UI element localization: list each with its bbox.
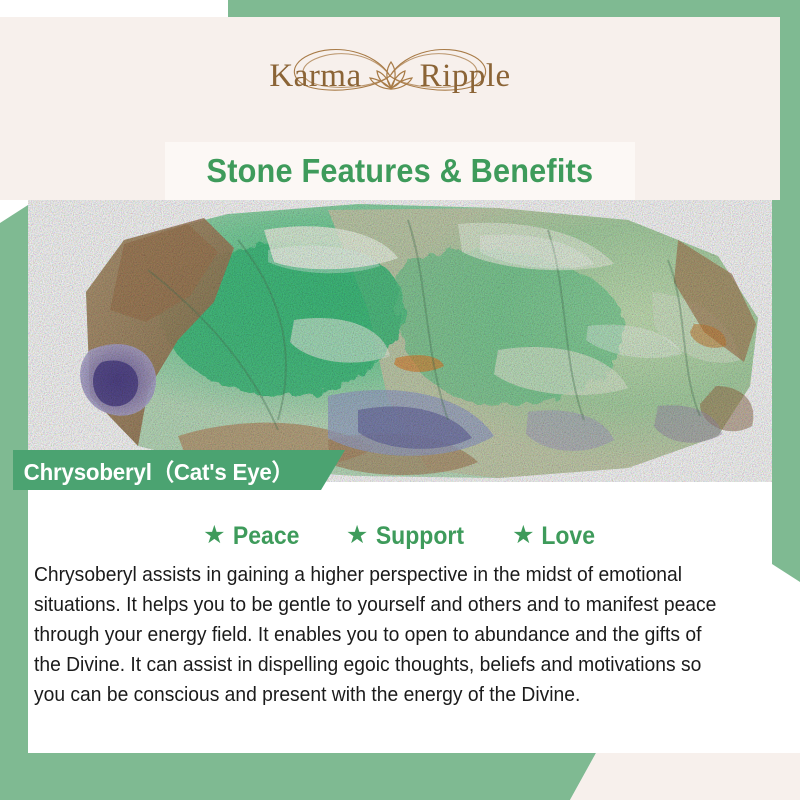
footer-cream-corner [570, 753, 800, 800]
keyword-item-peace: ★ Peace [203, 522, 302, 551]
keyword-label: Love [541, 522, 595, 551]
star-icon: ★ [512, 523, 534, 548]
stone-info-card: Karma Ripple [0, 0, 800, 800]
page-title: Stone Features & Benefits [207, 152, 594, 190]
brand-logo: Karma Ripple [0, 40, 780, 112]
frame-bottom-bar [0, 753, 596, 800]
keyword-item-support: ★ Support [346, 522, 468, 551]
star-icon: ★ [203, 523, 225, 548]
frame-top-right-bar [228, 0, 800, 18]
stone-description: Chrysoberyl assists in gaining a higher … [34, 560, 728, 710]
page-title-box: Stone Features & Benefits [165, 142, 635, 200]
stone-name-label: Chrysoberyl（Cat's Eye） [13, 453, 294, 487]
stone-name-banner: Chrysoberyl（Cat's Eye） [13, 450, 345, 490]
keyword-label: Peace [232, 522, 299, 551]
keyword-item-love: ★ Love [512, 522, 597, 551]
brand-name-left: Karma [269, 60, 361, 93]
keyword-label: Support [376, 522, 464, 551]
frame-left-bar [0, 205, 28, 800]
stone-photo [28, 200, 772, 482]
brand-name-right: Ripple [420, 60, 511, 93]
lotus-flower-icon [368, 58, 414, 94]
keyword-list: ★ Peace ★ Support ★ Love [28, 515, 772, 557]
star-icon: ★ [346, 523, 368, 548]
